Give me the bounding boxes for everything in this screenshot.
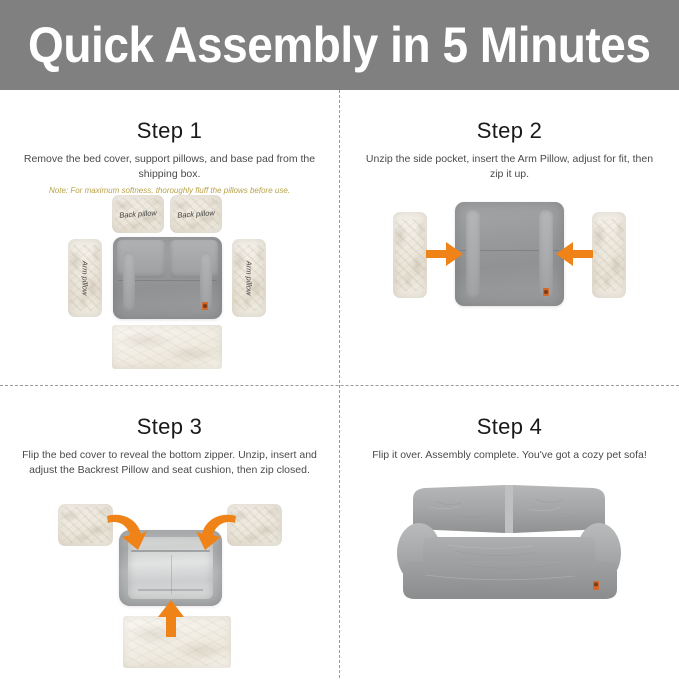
brand-tag-icon <box>202 302 208 310</box>
cover-pocket-left <box>466 210 480 297</box>
arrow-right-icon <box>426 240 464 268</box>
part-base-pad <box>112 325 222 369</box>
cover-pocket-right <box>539 210 553 297</box>
step-4-description: Flip it over. Assembly complete. You've … <box>358 448 661 463</box>
step-2-illustration <box>340 190 679 340</box>
part-arm-pillow-left <box>393 212 427 298</box>
part-assembled-pet-sofa <box>395 481 625 603</box>
part-label: Arm pillow <box>81 261 90 296</box>
cover-center-split <box>171 555 173 594</box>
cover-strap-left <box>123 252 135 311</box>
step-2-title: Step 2 <box>340 90 679 144</box>
brand-tag-icon <box>543 288 549 296</box>
step-1-title: Step 1 <box>0 90 339 144</box>
part-bed-cover <box>113 237 222 319</box>
page-title: Quick Assembly in 5 Minutes <box>28 20 650 70</box>
arrow-down-left-icon <box>194 510 238 552</box>
step-2-panel: Step 2 Unzip the side pocket, insert the… <box>340 90 679 385</box>
step-4-panel: Step 4 Flip it over. Assembly complete. … <box>340 386 679 681</box>
part-label: Back pillow <box>170 208 223 221</box>
step-1-description: Remove the bed cover, support pillows, a… <box>18 152 321 182</box>
step-1-illustration: Back pillow Back pillow Arm pillow Arm p… <box>0 187 339 377</box>
part-bed-cover <box>455 202 564 306</box>
part-label: Arm pillow <box>245 261 254 296</box>
part-arm-pillow-left: Arm pillow <box>68 239 102 317</box>
step-3-description: Flip the bed cover to reveal the bottom … <box>10 448 329 478</box>
step-3-title: Step 3 <box>0 386 339 440</box>
part-back-pillow-right: Back pillow <box>170 195 222 233</box>
step-4-title: Step 4 <box>340 386 679 440</box>
step-4-illustration <box>340 481 679 611</box>
part-arm-pillow-right <box>592 212 626 298</box>
arrow-down-right-icon <box>105 510 149 552</box>
arrow-up-icon <box>157 599 185 637</box>
part-label: Back pillow <box>112 208 165 221</box>
arrow-left-icon <box>555 240 593 268</box>
step-1-panel: Step 1 Remove the bed cover, support pil… <box>0 90 339 385</box>
step-3-panel: Step 3 Flip the bed cover to reveal the … <box>0 386 339 681</box>
step-2-description: Unzip the side pocket, insert the Arm Pi… <box>358 152 661 182</box>
step-3-illustration <box>0 504 339 669</box>
part-back-pillow-left: Back pillow <box>112 195 164 233</box>
part-arm-pillow-right: Arm pillow <box>232 239 266 317</box>
header-bar: Quick Assembly in 5 Minutes <box>0 0 679 90</box>
steps-grid: Step 1 Remove the bed cover, support pil… <box>0 90 679 678</box>
